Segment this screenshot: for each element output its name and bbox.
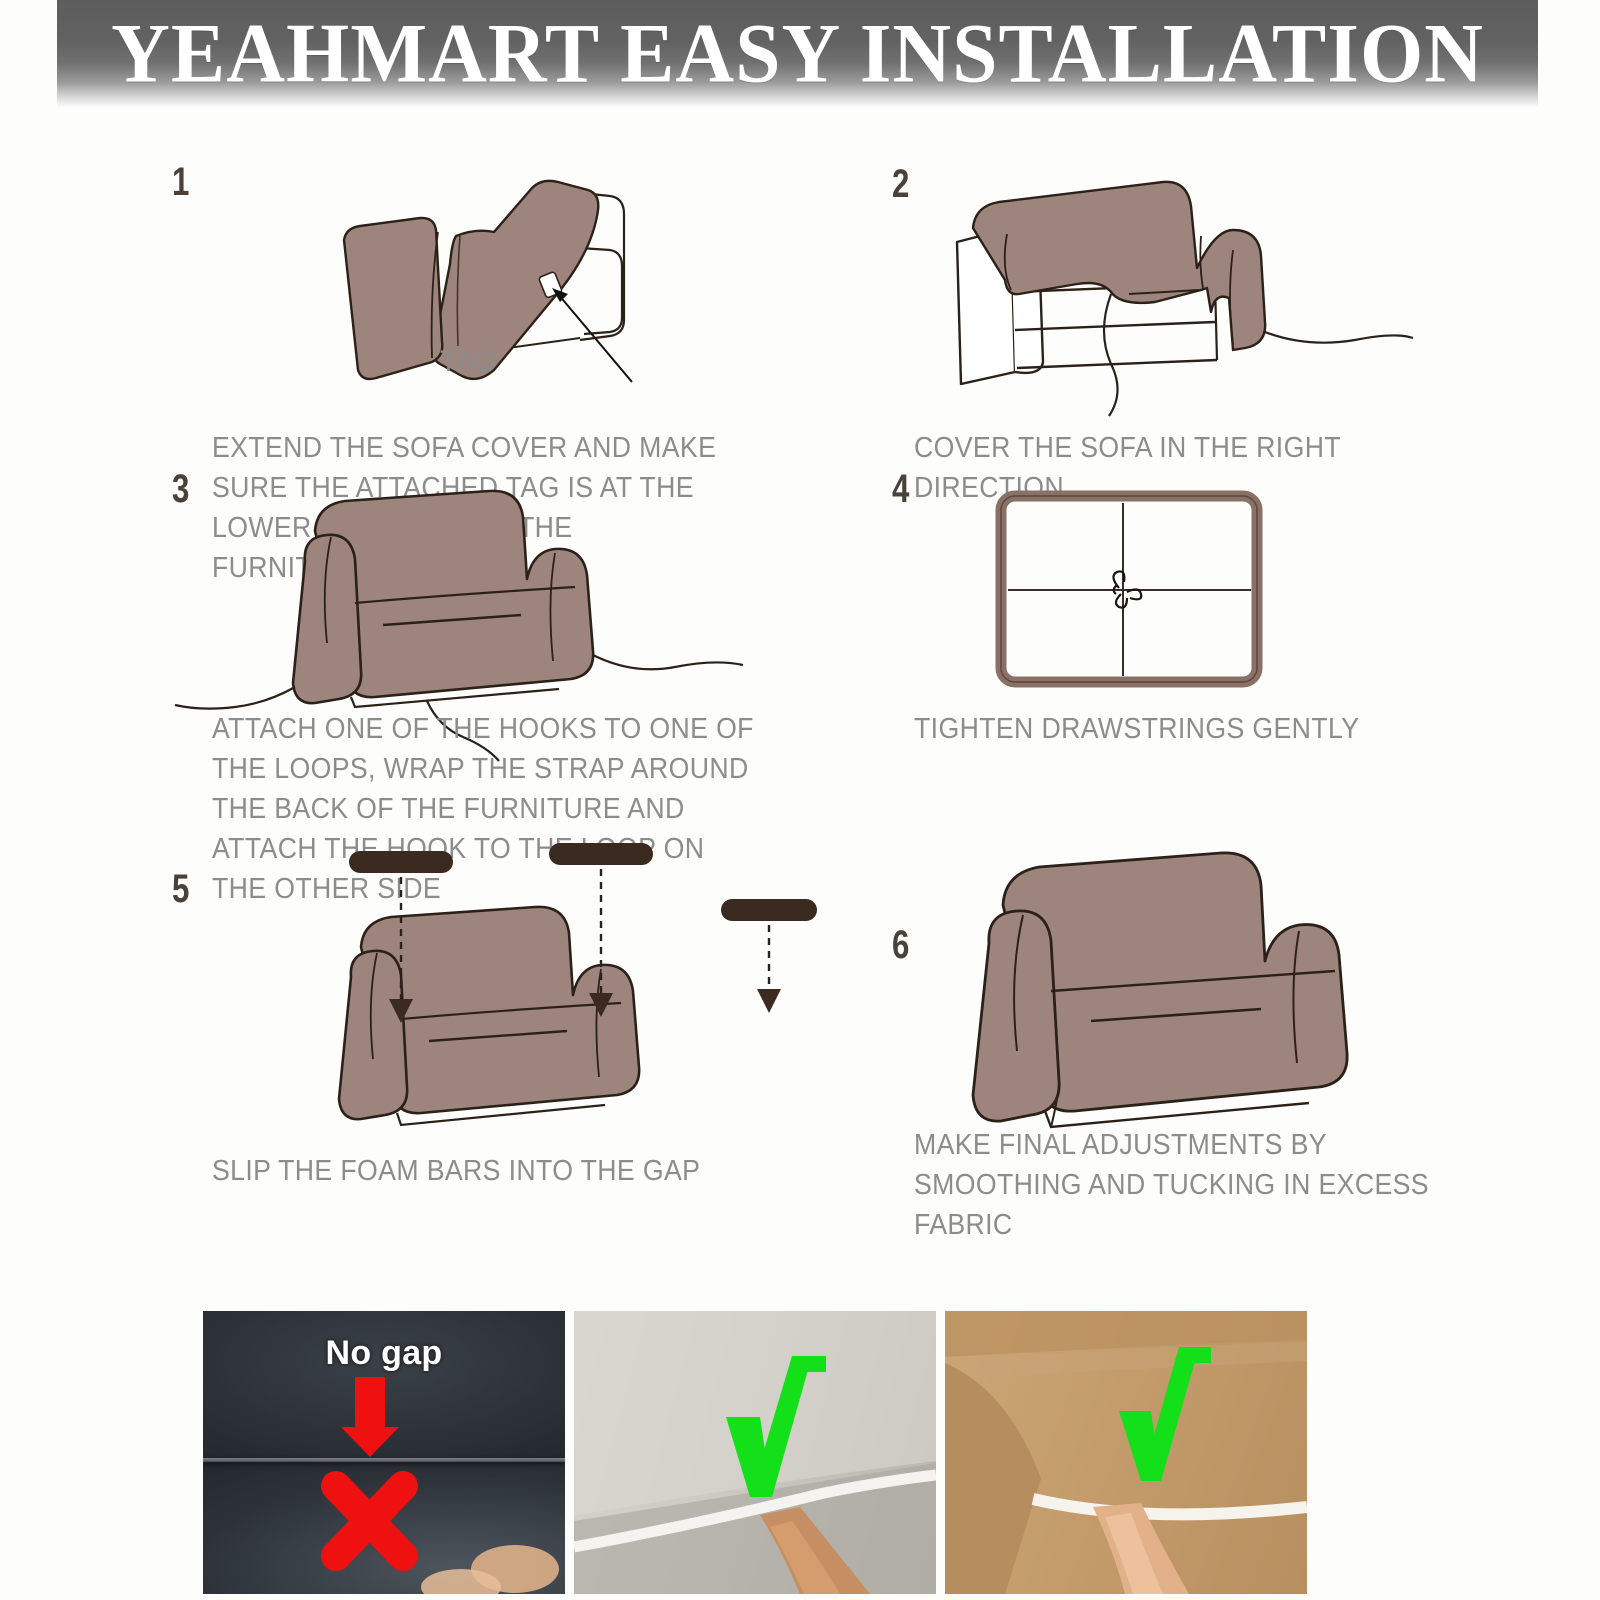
header-banner: YEAHMART EASY INSTALLATION (57, 0, 1538, 108)
step-4-caption: TIGHTEN DRAWSTRINGS GENTLY (914, 709, 1429, 749)
photo-strip: No gap (203, 1311, 1383, 1596)
foam-bar-2 (549, 843, 653, 865)
step-3-illustration (155, 475, 775, 715)
step-number-4: 4 (892, 467, 909, 512)
step-6-illustration (905, 835, 1505, 1135)
photo-tan-check (945, 1311, 1307, 1594)
step-4-illustration (995, 490, 1265, 690)
photo-gray-check (574, 1311, 936, 1594)
step-2-illustration (915, 172, 1435, 422)
tag-annotation-label: TAG (440, 342, 955, 382)
step-5-illustration (165, 843, 725, 1143)
foam-bar-1 (349, 851, 453, 873)
step-number-2: 2 (892, 162, 909, 207)
step-1-illustration (280, 170, 700, 420)
photo-no-gap: No gap (203, 1311, 565, 1594)
step-number-1: 1 (172, 160, 189, 205)
step-5-caption: SLIP THE FOAM BARS INTO THE GAP (212, 1151, 764, 1191)
down-arrow-red-icon (341, 1377, 399, 1457)
page-title: YEAHMART EASY INSTALLATION (111, 2, 1484, 105)
cross-icon (336, 1486, 403, 1556)
steps-grid: 1 TAG EXTEND TH (0, 110, 1600, 1285)
step-6-caption: MAKE FINAL ADJUSTMENTS BY SMOOTHING AND … (914, 1125, 1466, 1245)
foam-bar-3 (721, 899, 817, 921)
